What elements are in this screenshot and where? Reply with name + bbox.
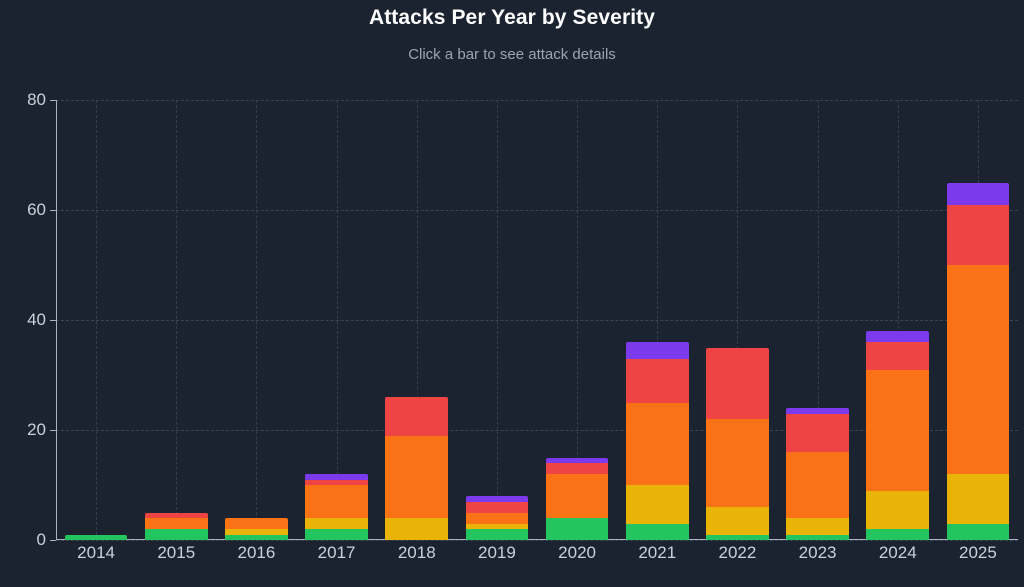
y-axis-tick <box>50 210 56 211</box>
y-axis-labels: 020406080 <box>0 100 46 540</box>
bar-segment-low[interactable] <box>947 524 1010 541</box>
bar-segment-high[interactable] <box>626 403 689 486</box>
y-axis-tick-label: 0 <box>37 530 46 550</box>
bar-2015[interactable] <box>145 513 208 541</box>
x-axis-tick-label: 2025 <box>959 543 997 563</box>
x-axis-tick-label: 2021 <box>638 543 676 563</box>
chart-subtitle: Click a bar to see attack details <box>0 46 1024 63</box>
bar-segment-high[interactable] <box>706 419 769 507</box>
bar-segment-catastrophic[interactable] <box>866 331 929 342</box>
y-axis-tick <box>50 540 56 541</box>
bar-segment-critical[interactable] <box>706 348 769 420</box>
x-axis-tick-label: 2018 <box>398 543 436 563</box>
bar-2014[interactable] <box>65 535 128 541</box>
gridline-horizontal <box>56 540 1018 541</box>
bar-segment-medium[interactable] <box>866 491 929 530</box>
bar-segment-low[interactable] <box>305 529 368 540</box>
y-axis-tick-label: 80 <box>27 90 46 110</box>
y-axis-tick-label: 60 <box>27 200 46 220</box>
bar-segment-high[interactable] <box>866 370 929 491</box>
bar-segment-critical[interactable] <box>385 397 448 436</box>
x-axis-tick-label: 2014 <box>77 543 115 563</box>
bar-segment-critical[interactable] <box>947 205 1010 266</box>
bar-segment-high[interactable] <box>546 474 609 518</box>
bar-segment-medium[interactable] <box>626 485 689 524</box>
bar-segment-high[interactable] <box>225 518 288 529</box>
bar-segment-catastrophic[interactable] <box>626 342 689 359</box>
bar-segment-high[interactable] <box>466 513 529 524</box>
bar-2020[interactable] <box>546 458 609 541</box>
bar-2021[interactable] <box>626 342 689 540</box>
bar-2017[interactable] <box>305 474 368 540</box>
bar-segment-low[interactable] <box>145 529 208 540</box>
bar-segment-medium[interactable] <box>305 518 368 529</box>
bar-segment-critical[interactable] <box>546 463 609 474</box>
x-axis-tick-label: 2023 <box>799 543 837 563</box>
bar-2016[interactable] <box>225 518 288 540</box>
bar-segment-medium[interactable] <box>706 507 769 535</box>
x-axis-tick-label: 2017 <box>318 543 356 563</box>
bar-segment-high[interactable] <box>786 452 849 518</box>
bar-segment-critical[interactable] <box>786 414 849 453</box>
bars-layer <box>56 100 1018 540</box>
bar-segment-high[interactable] <box>305 485 368 518</box>
bar-segment-low[interactable] <box>706 535 769 541</box>
bar-segment-low[interactable] <box>225 535 288 541</box>
bar-2023[interactable] <box>786 408 849 540</box>
y-axis-tick <box>50 320 56 321</box>
bar-segment-low[interactable] <box>866 529 929 540</box>
x-axis-labels: 2014201520162017201820192020202120222023… <box>56 543 1018 577</box>
x-axis-tick-label: 2024 <box>879 543 917 563</box>
page-title: Attacks Per Year by Severity <box>0 6 1024 30</box>
bar-segment-low[interactable] <box>65 535 128 541</box>
bar-segment-medium[interactable] <box>385 518 448 540</box>
bar-segment-low[interactable] <box>626 524 689 541</box>
x-axis-tick-label: 2016 <box>237 543 275 563</box>
x-axis-tick-label: 2015 <box>157 543 195 563</box>
bar-segment-critical[interactable] <box>626 359 689 403</box>
bar-segment-medium[interactable] <box>947 474 1010 524</box>
x-axis-tick-label: 2022 <box>718 543 756 563</box>
bar-segment-high[interactable] <box>385 436 448 519</box>
bar-segment-low[interactable] <box>786 535 849 541</box>
y-axis-tick <box>50 100 56 101</box>
bar-2022[interactable] <box>706 348 769 541</box>
bar-segment-high[interactable] <box>145 518 208 529</box>
x-axis-tick-label: 2019 <box>478 543 516 563</box>
y-axis-tick-label: 40 <box>27 310 46 330</box>
bar-segment-high[interactable] <box>947 265 1010 474</box>
bar-2024[interactable] <box>866 331 929 540</box>
bar-segment-critical[interactable] <box>466 502 529 513</box>
bar-segment-low[interactable] <box>546 518 609 540</box>
bar-2018[interactable] <box>385 397 448 540</box>
plot-area <box>56 100 1018 540</box>
bar-segment-critical[interactable] <box>866 342 929 370</box>
chart-page: Attacks Per Year by Severity Click a bar… <box>0 0 1024 587</box>
bar-2025[interactable] <box>947 183 1010 541</box>
bar-segment-catastrophic[interactable] <box>947 183 1010 205</box>
y-axis-tick <box>50 430 56 431</box>
x-axis-tick-label: 2020 <box>558 543 596 563</box>
bar-segment-medium[interactable] <box>786 518 849 535</box>
bar-segment-low[interactable] <box>466 529 529 540</box>
bar-2019[interactable] <box>466 496 529 540</box>
y-axis-tick-label: 20 <box>27 420 46 440</box>
